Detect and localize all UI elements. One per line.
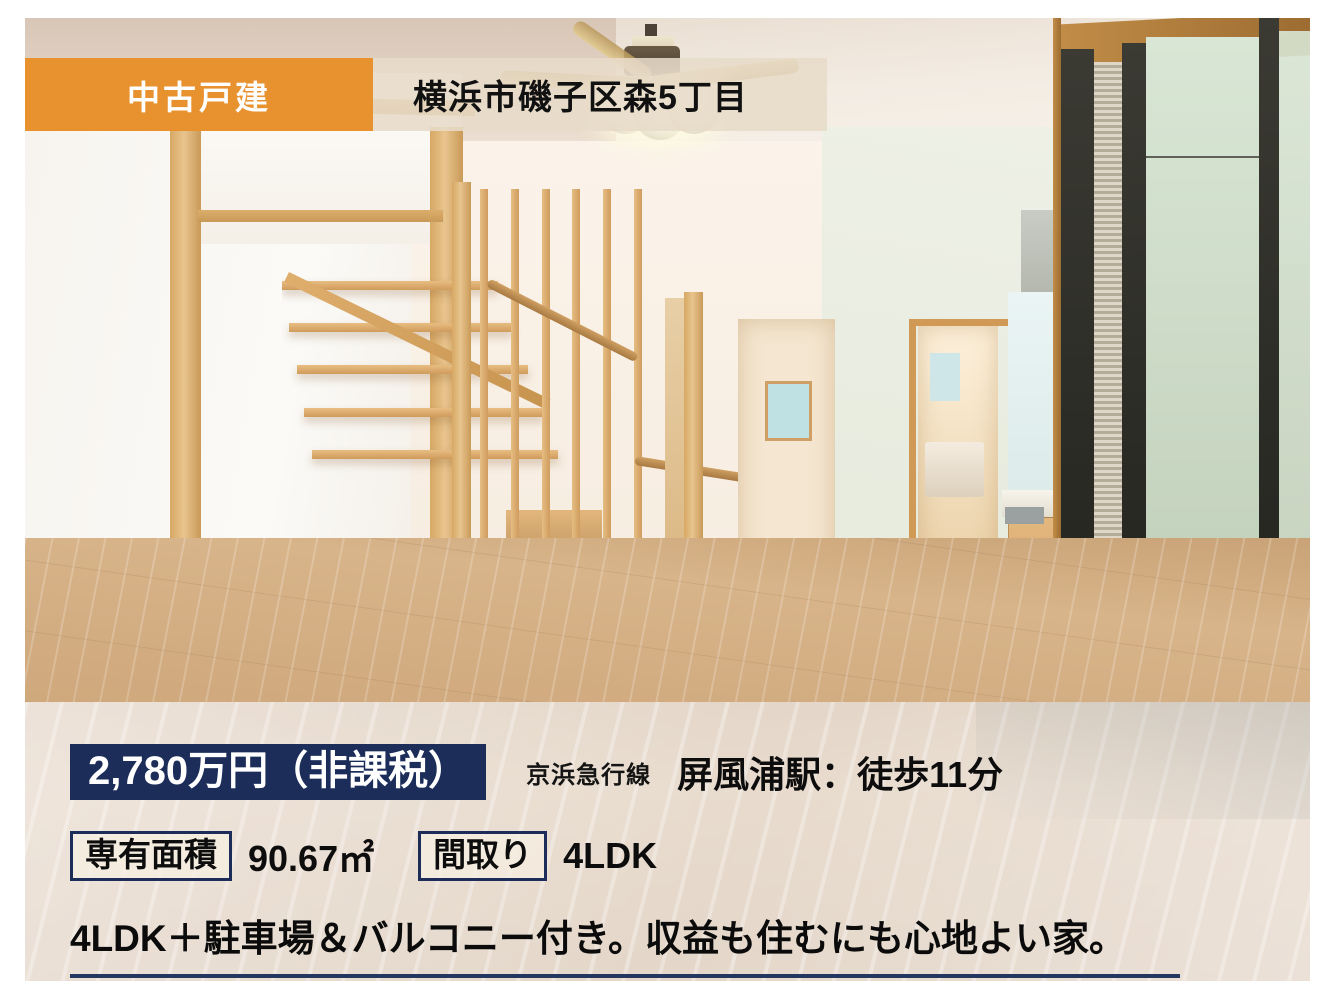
category-badge: 中古戸建 — [25, 58, 373, 131]
station-access-label: 屏風浦駅：徒歩11分 — [677, 746, 1003, 798]
price-value: 2,780万円（非課税） — [70, 744, 486, 800]
property-listing-card: 中古戸建 横浜市磯子区森5丁目 2,780万円（非課税） 京浜急行線 屏風浦駅：… — [25, 18, 1310, 981]
dishwasher-panel — [1005, 507, 1044, 524]
newel-post — [452, 182, 471, 579]
property-address: 横浜市磯子区森5丁目 — [373, 58, 827, 131]
baluster — [542, 189, 550, 545]
header-banner: 中古戸建 横浜市磯子区森5丁目 — [25, 58, 827, 131]
info-content: 2,780万円（非課税） 京浜急行線 屏風浦駅：徒歩11分 専有面積 90.67… — [25, 702, 1310, 981]
baluster — [480, 189, 488, 545]
washroom-mirror — [930, 353, 961, 401]
listing-card-canvas: 中古戸建 横浜市磯子区森5丁目 2,780万円（非課税） 京浜急行線 屏風浦駅：… — [0, 0, 1335, 999]
interior-photo: 中古戸建 横浜市磯子区森5丁目 — [25, 18, 1310, 702]
info-panel: 2,780万円（非課税） 京浜急行線 屏風浦駅：徒歩11分 専有面積 90.67… — [25, 702, 1310, 981]
price-row: 2,780万円（非課税） 京浜急行線 屏風浦駅：徒歩11分 — [70, 744, 1003, 800]
post-left — [170, 83, 201, 589]
spec-label-layout: 間取り — [418, 831, 547, 882]
tagline-underline — [70, 974, 1180, 978]
wood-floor — [25, 538, 1310, 702]
stair-balustrade — [468, 189, 661, 545]
baluster — [511, 189, 519, 545]
glass-panel-divider — [1146, 156, 1259, 158]
baluster — [634, 189, 642, 545]
floor-plank-texture — [25, 538, 1310, 702]
train-line-label: 京浜急行線 — [526, 755, 651, 790]
baluster — [603, 189, 611, 545]
spec-row: 専有面積 90.67㎡ 間取り 4LDK — [70, 830, 657, 882]
baluster — [572, 189, 580, 545]
spec-value-area: 90.67㎡ — [248, 830, 374, 882]
spec-label-area: 専有面積 — [70, 831, 232, 882]
sliding-door-glass-panel — [1146, 37, 1259, 566]
window-small — [765, 381, 812, 442]
tagline: 4LDK＋駐車場＆バルコニー付き。収益も住むにも心地よい家。 — [70, 908, 1126, 962]
sliding-door-glass-panel — [1279, 31, 1310, 572]
spec-value-layout: 4LDK — [563, 835, 657, 877]
washbasin — [925, 442, 984, 497]
